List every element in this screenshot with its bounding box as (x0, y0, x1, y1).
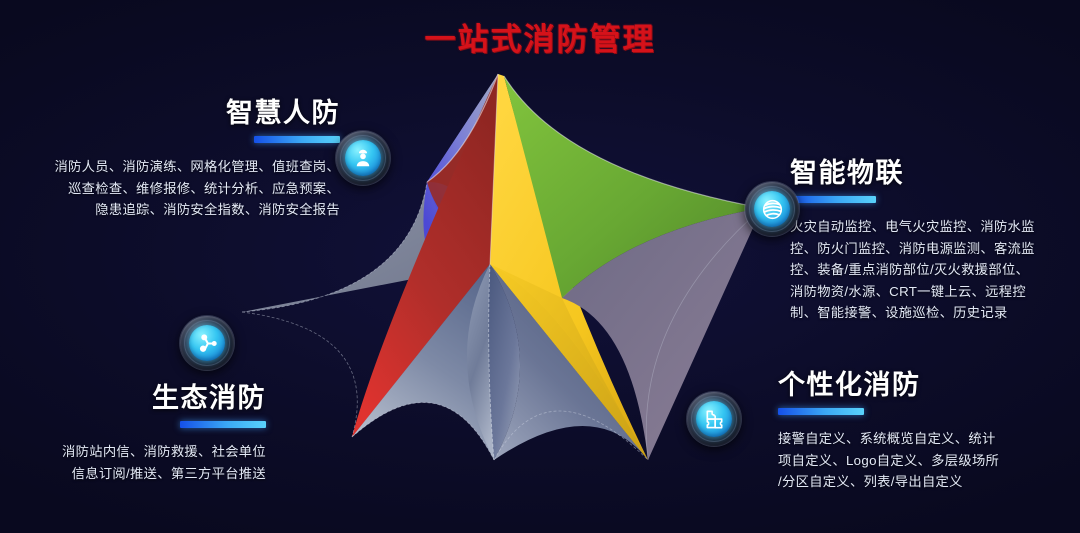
section-smart-human-defense: 智慧人防 消防人员、消防演练、网格化管理、值班查岗、 巡查检查、维修报修、统计分… (4, 98, 340, 221)
page-title: 一站式消防管理 (0, 14, 1080, 59)
section-body: 接警自定义、系统概览自定义、统计 项自定义、Logo自定义、多层级场所 /分区自… (778, 428, 1078, 493)
badge-smart-human-defense[interactable] (336, 131, 390, 185)
section-heading-row: 智能物联 (790, 158, 1078, 189)
accent-rule (790, 196, 876, 203)
badge-eco-firefighting[interactable] (180, 316, 234, 370)
section-title: 智慧人防 (226, 98, 340, 129)
section-personalized-firefighting: 个性化消防 接警自定义、系统概览自定义、统计 项自定义、Logo自定义、多层级场… (778, 370, 1078, 493)
share-node-icon (189, 325, 225, 361)
section-heading-row: 生态消防 (4, 383, 266, 414)
badge-smart-iot[interactable] (745, 182, 799, 236)
section-heading-row: 智慧人防 (4, 98, 340, 129)
section-heading-row: 个性化消防 (778, 370, 1078, 401)
globe-network-icon (754, 191, 790, 227)
section-body: 消防人员、消防演练、网格化管理、值班查岗、 巡查检查、维修报修、统计分析、应急预… (4, 156, 340, 221)
section-body: 消防站内信、消防救援、社会单位 信息订阅/推送、第三方平台推送 (4, 441, 266, 484)
firefighter-person-icon (345, 140, 381, 176)
section-eco-firefighting: 生态消防 消防站内信、消防救援、社会单位 信息订阅/推送、第三方平台推送 (4, 383, 266, 484)
badge-personalized-firefighting[interactable] (687, 392, 741, 446)
accent-rule (778, 408, 864, 415)
accent-rule (254, 136, 340, 143)
puzzle-pieces-icon (696, 401, 732, 437)
accent-rule (180, 421, 266, 428)
section-title: 个性化消防 (778, 370, 921, 401)
section-smart-iot: 智能物联 火灾自动监控、电气火灾监控、消防水监 控、防火门监控、消防电源监测、客… (790, 158, 1078, 324)
infographic-stage: 一站式消防管理 (0, 0, 1080, 533)
section-body: 火灾自动监控、电气火灾监控、消防水监 控、防火门监控、消防电源监测、客流监 控、… (790, 216, 1078, 324)
section-title: 智能物联 (790, 158, 904, 189)
section-title: 生态消防 (152, 383, 266, 414)
